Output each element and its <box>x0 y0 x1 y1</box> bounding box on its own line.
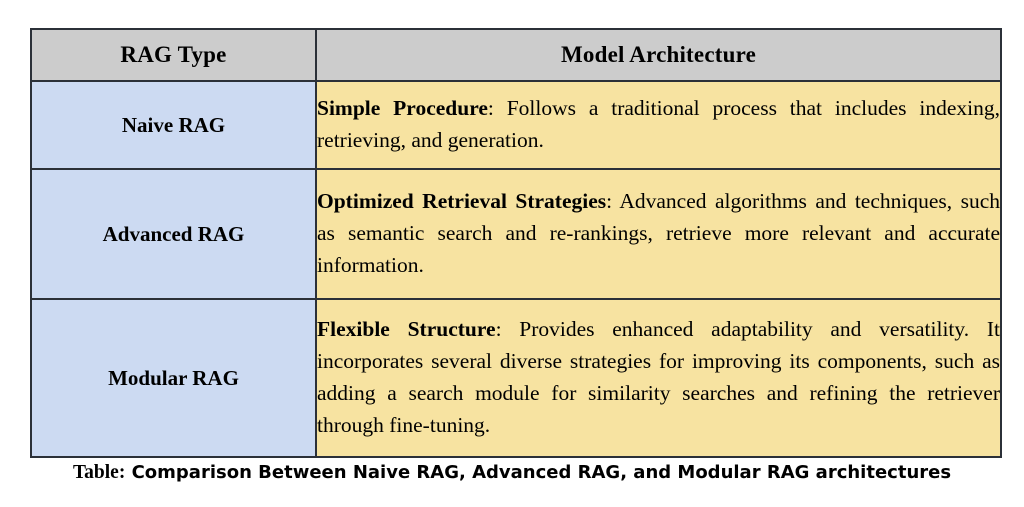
cell-lead-label: Flexible Structure <box>317 317 496 341</box>
caption-label: Table: <box>73 462 125 483</box>
table-row: Modular RAG Flexible Structure: Provides… <box>31 299 1001 457</box>
table-caption: Table: Comparison Between Naive RAG, Adv… <box>0 462 1024 484</box>
cell-lead-label: Simple Procedure <box>317 96 488 120</box>
cell-rag-type-naive: Naive RAG <box>31 81 316 169</box>
table-row: Naive RAG Simple Procedure: Follows a tr… <box>31 81 1001 169</box>
cell-rag-type-modular: Modular RAG <box>31 299 316 457</box>
table-row: Advanced RAG Optimized Retrieval Strateg… <box>31 169 1001 299</box>
table-container: RAG Type Model Architecture Naive RAG Si… <box>30 28 1000 458</box>
table-body: Naive RAG Simple Procedure: Follows a tr… <box>31 81 1001 457</box>
cell-lead-label: Optimized Retrieval Strategies <box>317 189 606 213</box>
cell-architecture-naive: Simple Procedure: Follows a traditional … <box>316 81 1001 169</box>
column-header-model-architecture: Model Architecture <box>316 29 1001 81</box>
cell-architecture-modular: Flexible Structure: Provides enhanced ad… <box>316 299 1001 457</box>
column-header-rag-type: RAG Type <box>31 29 316 81</box>
table-figure: RAG Type Model Architecture Naive RAG Si… <box>0 0 1024 507</box>
cell-rag-type-advanced: Advanced RAG <box>31 169 316 299</box>
cell-architecture-advanced: Optimized Retrieval Strategies: Advanced… <box>316 169 1001 299</box>
table-header: RAG Type Model Architecture <box>31 29 1001 81</box>
caption-text: Comparison Between Naive RAG, Advanced R… <box>125 462 951 483</box>
rag-comparison-table: RAG Type Model Architecture Naive RAG Si… <box>30 28 1002 458</box>
table-header-row: RAG Type Model Architecture <box>31 29 1001 81</box>
